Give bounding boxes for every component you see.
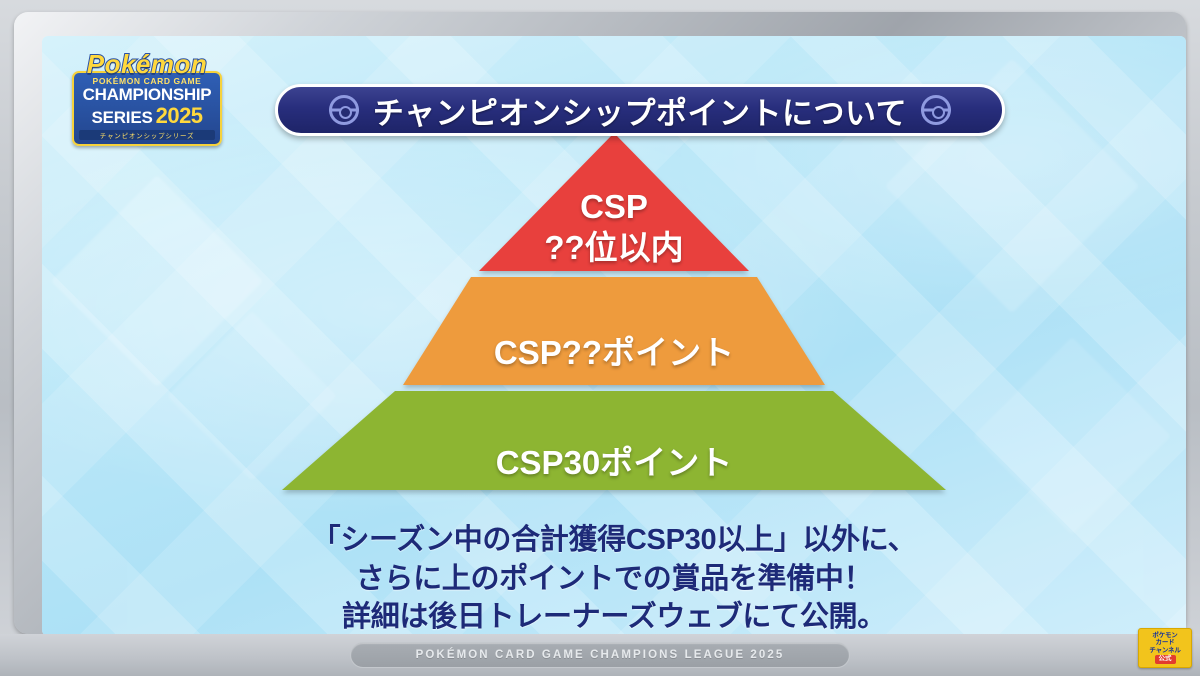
logo-jp-subtitle: チャンピオンシップシリーズ — [79, 130, 215, 140]
caption-line-3: 詳細は後日トレーナーズウェブにて公開。 — [42, 598, 1186, 636]
page-title: チャンピオンシップポイントについて — [373, 88, 907, 133]
slide-frame: CSP ??位以内 CSP??ポイント CSP30ポイント 「シーズン中の合計獲… — [14, 12, 1186, 634]
pokemon-wordmark: Pokémon — [72, 52, 222, 77]
caption-line-2: さらに上のポイントでの賞品を準備中！ — [42, 560, 1186, 599]
pokeball-icon-right — [921, 95, 951, 125]
slide-screen: CSP ??位以内 CSP??ポイント CSP30ポイント 「シーズン中の合計獲… — [0, 0, 1200, 676]
logo-series: SERIES — [91, 108, 152, 128]
watermark-line-2: カード — [1156, 639, 1175, 646]
caption-line-1: 「シーズン中の合計獲得CSP30以上」以外に、 — [42, 521, 1186, 560]
footer-strip: POKÉMON CARD GAME CHAMPIONS LEAGUE 2025 — [0, 634, 1200, 676]
championship-series-logo: Pokémon POKÉMON CARD GAME CHAMPIONSHIP S… — [72, 52, 222, 144]
event-name-text: POKÉMON CARD GAME CHAMPIONS LEAGUE 2025 — [416, 649, 785, 661]
logo-series-row: SERIES 2025 — [79, 103, 215, 129]
logo-year: 2025 — [156, 103, 203, 129]
slide-canvas: CSP ??位以内 CSP??ポイント CSP30ポイント 「シーズン中の合計獲… — [42, 36, 1186, 636]
pokeball-icon-left — [329, 95, 359, 125]
event-name-pill: POKÉMON CARD GAME CHAMPIONS LEAGUE 2025 — [350, 642, 850, 668]
pyramid-tier-middle — [403, 277, 825, 385]
logo-plate: POKÉMON CARD GAME CHAMPIONSHIP SERIES 20… — [72, 71, 222, 146]
pyramid-tier-bottom — [282, 391, 946, 490]
caption-block: 「シーズン中の合計獲得CSP30以上」以外に、 さらに上のポイントでの賞品を準備… — [42, 521, 1186, 636]
slide-title-banner: チャンピオンシップポイントについて — [275, 84, 1005, 136]
pyramid-tier-top — [479, 133, 749, 271]
watermark-badge: 公式 — [1155, 655, 1176, 664]
channel-watermark: ポケモン カード チャンネル 公式 — [1138, 628, 1192, 668]
watermark-line-3: チャンネル — [1149, 647, 1180, 654]
logo-championship: CHAMPIONSHIP — [79, 86, 215, 103]
